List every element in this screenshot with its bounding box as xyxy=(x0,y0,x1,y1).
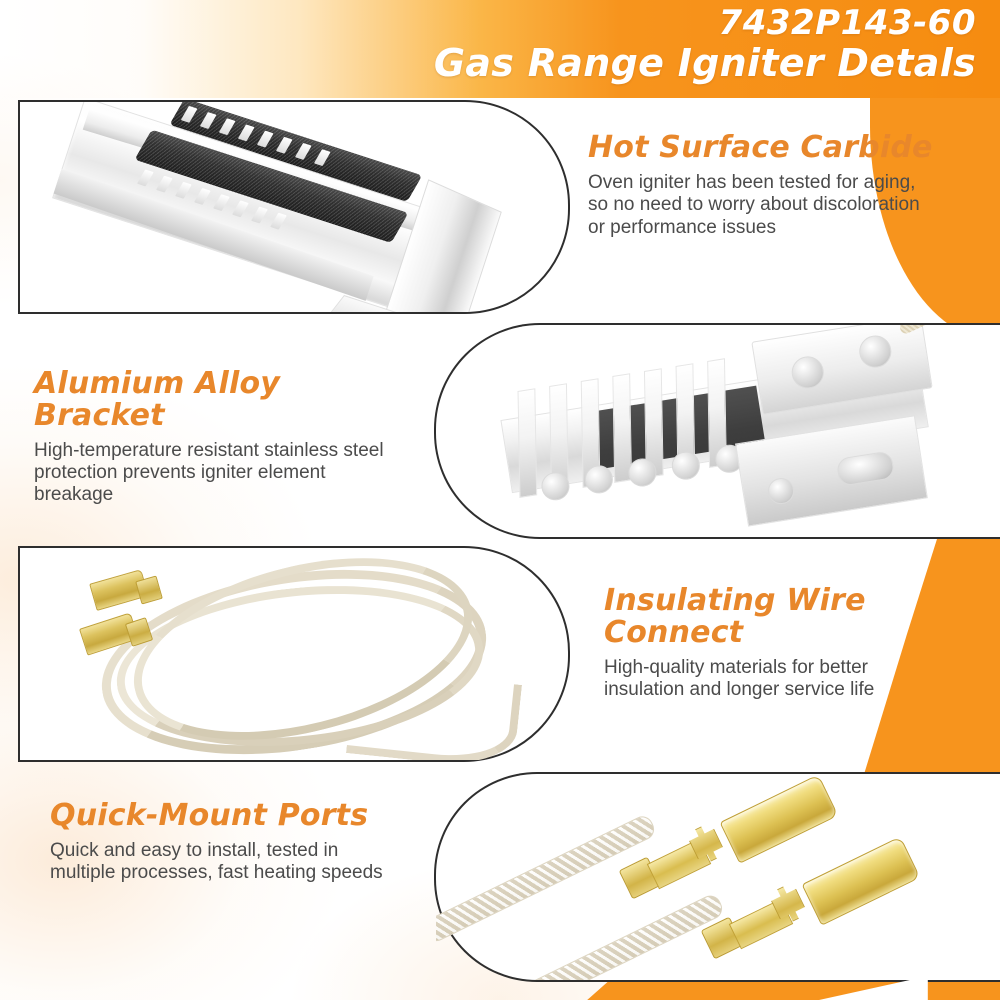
photo-clip xyxy=(436,325,1000,537)
feature-body: High-temperature resistant stainless ste… xyxy=(34,440,404,507)
photo-panel-insulating-wire xyxy=(18,546,570,762)
photo-panel-quick-mount-ports xyxy=(434,772,1000,982)
feature-hot-surface-carbide: Hot Surface Carbide Oven igniter has bee… xyxy=(588,132,938,239)
product-model-number: 7432P143-60 xyxy=(434,6,976,40)
infographic-page: 7432P143-60 Gas Range Igniter Detals xyxy=(0,0,1000,1000)
feature-heading: Alumium Alloy Bracket xyxy=(34,368,404,432)
feature-heading: Quick-Mount Ports xyxy=(50,800,395,832)
photo-clip xyxy=(436,774,1000,980)
housing-slot xyxy=(156,176,173,193)
page-title: Gas Range Igniter Detals xyxy=(434,44,976,82)
housing-slot xyxy=(175,182,192,199)
photo-clip xyxy=(20,102,568,312)
coiled-wire-photo xyxy=(20,548,568,760)
housing-slot xyxy=(213,194,230,211)
bracket-vent-hole xyxy=(670,450,702,482)
mount-hole xyxy=(857,333,894,370)
bracket-vent-hole xyxy=(539,470,571,502)
feature-heading: Insulating Wire Connect xyxy=(604,585,944,649)
housing-slot xyxy=(314,149,331,166)
quick-mount-port xyxy=(719,774,838,864)
terminal-crimp xyxy=(135,575,163,604)
feature-body: Oven igniter has been tested for aging, … xyxy=(588,172,938,239)
housing-slot xyxy=(232,200,249,217)
foot-oval-slot xyxy=(836,450,896,486)
feature-quick-mount-ports: Quick-Mount Ports Quick and easy to inst… xyxy=(50,800,395,885)
foot-hole xyxy=(766,476,796,506)
housing-slot xyxy=(238,124,255,141)
feature-body: High-quality materials for better insula… xyxy=(604,657,944,702)
housing-slot xyxy=(251,207,268,224)
bracket-vent-hole xyxy=(626,456,658,488)
wire-coil-tail xyxy=(346,667,522,760)
header-text-group: 7432P143-60 Gas Range Igniter Detals xyxy=(434,6,976,82)
feature-heading: Hot Surface Carbide xyxy=(588,132,938,164)
feature-body: Quick and easy to install, tested in mul… xyxy=(50,840,395,885)
igniter-bracket-photo xyxy=(453,325,999,537)
quick-mount-port xyxy=(801,836,920,926)
housing-slot xyxy=(276,137,293,154)
mount-hole xyxy=(789,354,826,391)
photo-panel-alumium-alloy-bracket xyxy=(434,323,1000,539)
photo-clip xyxy=(20,548,568,760)
feature-insulating-wire-connect: Insulating Wire Connect High-quality mat… xyxy=(604,585,944,701)
housing-slot xyxy=(200,112,217,129)
bracket-vent-hole xyxy=(583,463,615,495)
housing-slot xyxy=(295,143,312,160)
igniter-carbide-photo xyxy=(21,102,545,312)
photo-panel-hot-surface-carbide xyxy=(18,100,570,314)
quick-mount-connectors-photo xyxy=(436,774,1000,980)
housing-slot xyxy=(219,118,236,135)
housing-slot xyxy=(257,131,274,148)
feature-alumium-alloy-bracket: Alumium Alloy Bracket High-temperature r… xyxy=(34,368,404,507)
bracket-fin xyxy=(518,388,538,498)
housing-slot xyxy=(194,188,211,205)
housing-slot xyxy=(270,213,287,230)
